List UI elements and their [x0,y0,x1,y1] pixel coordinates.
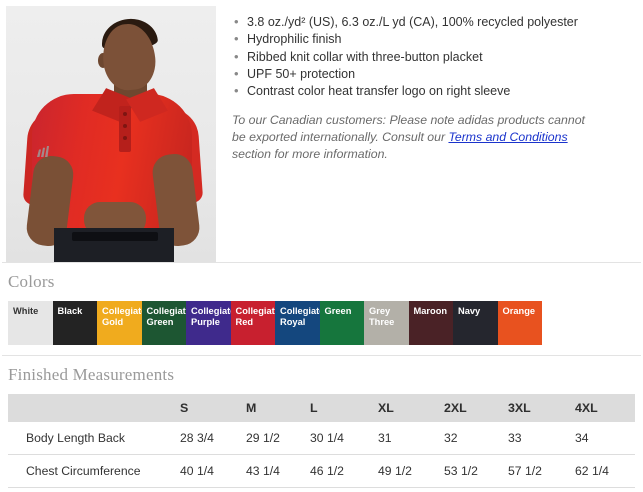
row-value-m: 43 1/4 [246,455,310,488]
row-value-4xl: 34 [575,422,635,455]
row-value-l: 30 1/4 [310,422,378,455]
adidas-logo-icon [37,146,49,157]
table-header-row: S M L XL 2XL 3XL 4XL [8,394,635,422]
section-divider [2,262,641,263]
spec-item: 3.8 oz./yd² (US), 6.3 oz./L yd (CA), 100… [232,14,639,31]
model-belt [72,232,158,241]
row-value-l: 10 1/4 [310,488,378,492]
product-image[interactable] [6,6,216,262]
spec-item: Ribbed knit collar with three-button pla… [232,49,639,66]
row-value-s: 28 3/4 [180,422,246,455]
row-label: Sleeve Length [8,488,180,492]
column-header-xl: XL [378,394,444,422]
spec-item: Hydrophilic finish [232,31,639,48]
color-swatch-black[interactable]: Black [53,301,98,345]
table-row: Sleeve Length 9 1/2 10 10 1/4 10 1/2 10 … [8,488,635,492]
table-row: Body Length Back 28 3/4 29 1/2 30 1/4 31… [8,422,635,455]
row-value-m: 29 1/2 [246,422,310,455]
measurements-heading: Finished Measurements [8,365,643,385]
terms-and-conditions-link[interactable]: Terms and Conditions [448,130,567,144]
color-swatch-green[interactable]: Green [320,301,365,345]
note-text-after-link: section for more information. [232,147,388,161]
row-value-3xl: 57 1/2 [508,455,575,488]
row-value-m: 10 [246,488,310,492]
row-value-4xl: 62 1/4 [575,455,635,488]
color-swatch-white[interactable]: White [8,301,53,345]
canadian-customers-note: To our Canadian customers: Please note a… [232,112,587,163]
color-swatch-maroon[interactable]: Maroon [409,301,454,345]
row-value-xl: 49 1/2 [378,455,444,488]
color-swatch-orange[interactable]: Orange [498,301,543,345]
color-swatch-collegiate-purple[interactable]: Collegiate Purple [186,301,231,345]
row-value-4xl: 11 1/2 [575,488,635,492]
colors-heading: Colors [8,272,643,292]
spec-item: UPF 50+ protection [232,66,639,83]
color-swatch-navy[interactable]: Navy [453,301,498,345]
column-header-2xl: 2XL [444,394,508,422]
color-swatch-collegiate-green[interactable]: Collegiate Green [142,301,187,345]
color-swatch-grey-three[interactable]: Grey Three [364,301,409,345]
column-header-4xl: 4XL [575,394,635,422]
product-detail-page: 3.8 oz./yd² (US), 6.3 oz./L yd (CA), 100… [0,0,643,492]
row-value-s: 40 1/4 [180,455,246,488]
row-label: Body Length Back [8,422,180,455]
row-value-2xl: 10 3/4 [444,488,508,492]
spec-list: 3.8 oz./yd² (US), 6.3 oz./L yd (CA), 100… [232,14,639,100]
polo-button [123,124,127,128]
table-row: Chest Circumference 40 1/4 43 1/4 46 1/2… [8,455,635,488]
row-value-3xl: 11 1/4 [508,488,575,492]
row-value-2xl: 53 1/2 [444,455,508,488]
column-header-l: L [310,394,378,422]
finished-measurements-table: S M L XL 2XL 3XL 4XL Body Length Back 28… [8,394,635,492]
section-divider [2,355,641,356]
spec-item: Contrast color heat transfer logo on rig… [232,83,639,100]
row-value-2xl: 32 [444,422,508,455]
color-swatch-list: White Black Collegiate Gold Collegiate G… [8,301,542,345]
row-value-s: 9 1/2 [180,488,246,492]
polo-button [123,136,127,140]
product-top-section: 3.8 oz./yd² (US), 6.3 oz./L yd (CA), 100… [0,0,643,262]
row-value-xl: 31 [378,422,444,455]
column-header-blank [8,394,180,422]
color-swatch-collegiate-royal[interactable]: Collegiate Royal [275,301,320,345]
row-value-3xl: 33 [508,422,575,455]
column-header-m: M [246,394,310,422]
row-label: Chest Circumference [8,455,180,488]
product-specs: 3.8 oz./yd² (US), 6.3 oz./L yd (CA), 100… [216,6,643,176]
row-value-l: 46 1/2 [310,455,378,488]
column-header-3xl: 3XL [508,394,575,422]
polo-button [123,112,127,116]
table-body: Body Length Back 28 3/4 29 1/2 30 1/4 31… [8,422,635,492]
color-swatch-collegiate-red[interactable]: Collegiate Red [231,301,276,345]
column-header-s: S [180,394,246,422]
row-value-xl: 10 1/2 [378,488,444,492]
table-header: S M L XL 2XL 3XL 4XL [8,394,635,422]
color-swatch-collegiate-gold[interactable]: Collegiate Gold [97,301,142,345]
